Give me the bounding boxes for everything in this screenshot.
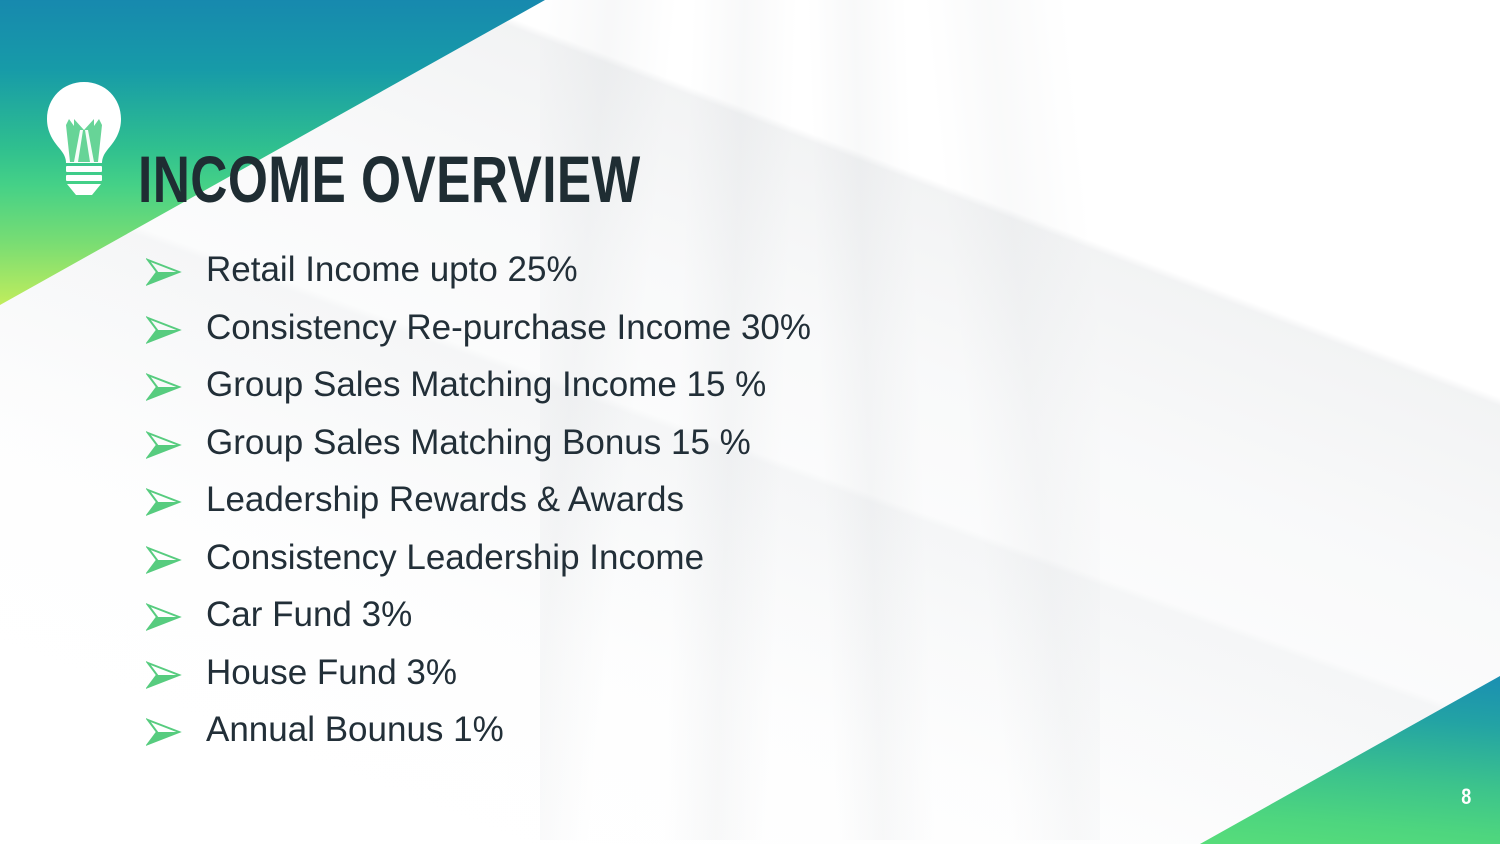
- list-item-label: Leadership Rewards & Awards: [206, 480, 684, 520]
- list-item: Annual Bounus 1%: [146, 710, 1296, 768]
- list-item: Group Sales Matching Income 15 %: [146, 365, 1296, 423]
- list-item: Consistency Re-purchase Income 30%: [146, 308, 1296, 366]
- list-item: Leadership Rewards & Awards: [146, 480, 1296, 538]
- slide-canvas: Income Overview Retail Income upto 25% C…: [0, 0, 1500, 844]
- lightbulb-icon: [36, 78, 132, 196]
- list-item-label: House Fund 3%: [206, 653, 457, 693]
- list-item: House Fund 3%: [146, 653, 1296, 711]
- list-item-label: Group Sales Matching Income 15 %: [206, 365, 766, 405]
- list-item-label: Annual Bounus 1%: [206, 710, 504, 750]
- income-bullet-list: Retail Income upto 25% Consistency Re-pu…: [146, 250, 1296, 768]
- list-item-label: Consistency Leadership Income: [206, 538, 704, 578]
- list-item: Retail Income upto 25%: [146, 250, 1296, 308]
- list-item-label: Retail Income upto 25%: [206, 250, 578, 290]
- page-title: Income Overview: [138, 144, 641, 214]
- list-item: Consistency Leadership Income: [146, 538, 1296, 596]
- list-item: Group Sales Matching Bonus 15 %: [146, 423, 1296, 481]
- list-item: Car Fund 3%: [146, 595, 1296, 653]
- list-item-label: Consistency Re-purchase Income 30%: [206, 308, 811, 348]
- page-number: 8: [1462, 784, 1472, 810]
- list-item-label: Car Fund 3%: [206, 595, 412, 635]
- list-item-label: Group Sales Matching Bonus 15 %: [206, 423, 751, 463]
